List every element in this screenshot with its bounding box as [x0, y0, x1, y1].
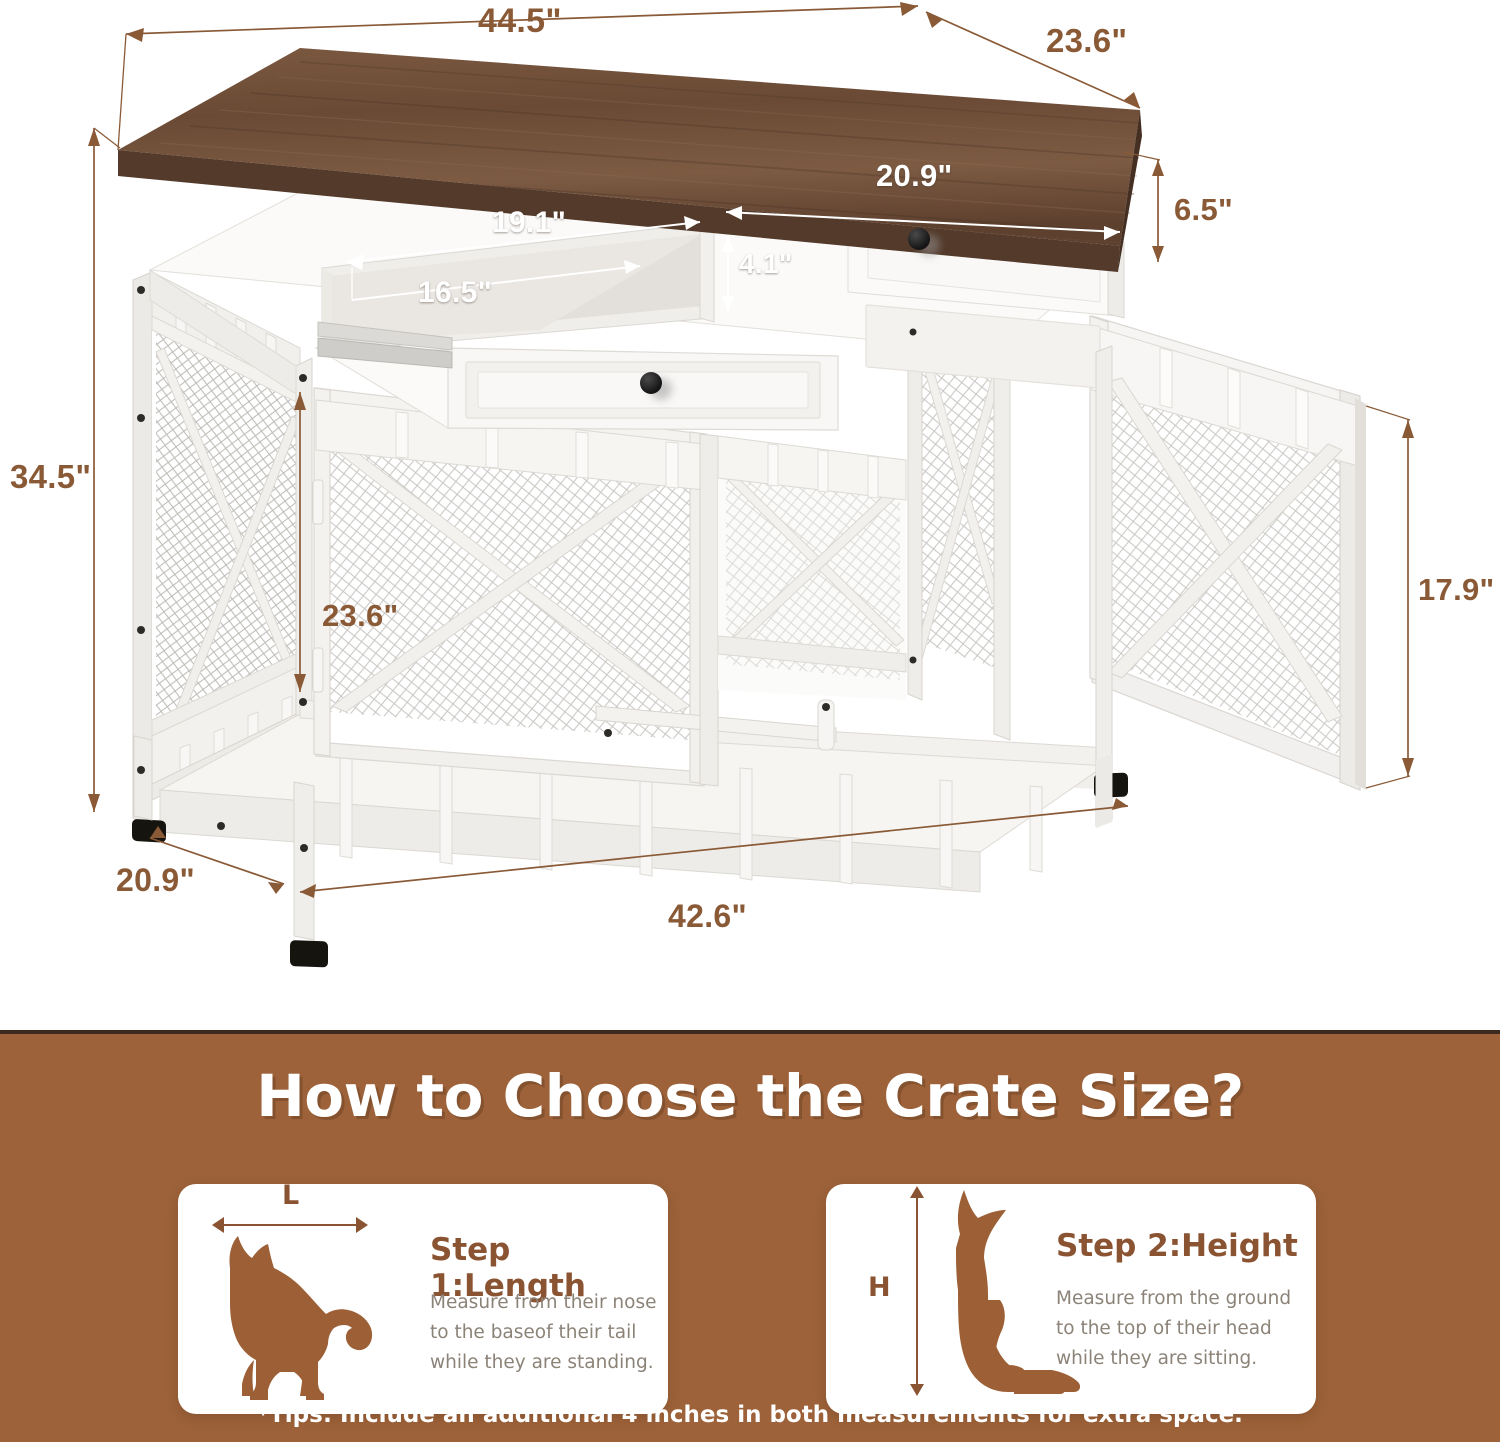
standing-dog-silhouette — [208, 1232, 408, 1404]
dimension-label-overall-height: 34.5" — [10, 458, 91, 496]
step1-body-line-2: to the baseof their tail — [430, 1318, 660, 1348]
step1-body-line-1: Measure from their nose — [430, 1288, 660, 1318]
guide-title: How to Choose the Crate Size? — [0, 1062, 1500, 1130]
length-arrow-line — [220, 1224, 360, 1226]
dimension-label-crate-interior-height: 23.6" — [322, 598, 399, 634]
crate-size-guide-panel: How to Choose the Crate Size? L Step 1:L… — [0, 1030, 1500, 1442]
dimension-label-drawer-front-height: 6.5" — [1174, 192, 1233, 228]
step1-body: Measure from their nose to the baseof th… — [430, 1288, 660, 1378]
dimension-label-drawer-inner-depth: 16.5" — [418, 276, 492, 310]
length-arrow-right — [356, 1217, 368, 1233]
drawer-knob-right[interactable] — [908, 228, 930, 250]
length-measure-letter: L — [282, 1180, 299, 1211]
dimension-label-drawer-width: 19.1" — [492, 206, 566, 240]
step1-body-line-3: while they are standing. — [430, 1348, 660, 1378]
step-card-height: H Step 2:Height Measure from the ground … — [826, 1184, 1316, 1414]
dimension-label-drawer-opening-top: 20.9" — [876, 158, 953, 194]
height-measure-letter: H — [868, 1272, 891, 1303]
step2-body-line-1: Measure from the ground — [1056, 1284, 1296, 1314]
height-arrow-line — [916, 1198, 918, 1386]
dimension-label-door-height: 17.9" — [1418, 572, 1495, 608]
dog-crate-furniture-illustration — [0, 0, 1500, 1030]
step2-body: Measure from the ground to the top of th… — [1056, 1284, 1296, 1374]
length-arrow-left — [212, 1217, 224, 1233]
step2-heading: Step 2:Height — [1056, 1228, 1298, 1264]
step2-body-line-2: to the top of their head — [1056, 1314, 1296, 1344]
dimension-label-overall-depth: 23.6" — [1046, 22, 1127, 60]
dimension-label-overall-width: 44.5" — [478, 2, 562, 41]
dimension-label-base-width: 42.6" — [668, 898, 747, 935]
tips-note: *Tips: Include an additional 4 inches in… — [0, 1402, 1500, 1428]
dimension-label-base-depth: 20.9" — [116, 862, 195, 899]
drawer-knob-front[interactable] — [640, 372, 662, 394]
step-card-length: L Step 1:Length Measure from their nose … — [178, 1184, 668, 1414]
dimension-label-drawer-inner-height: 4.1" — [739, 248, 792, 280]
furniture-vector — [0, 0, 1500, 1030]
product-dimension-diagram: 44.5" 23.6" 20.9" 19.1" 16.5" 4.1" 6.5" … — [0, 0, 1500, 1030]
step2-body-line-3: while they are sitting. — [1056, 1344, 1296, 1374]
